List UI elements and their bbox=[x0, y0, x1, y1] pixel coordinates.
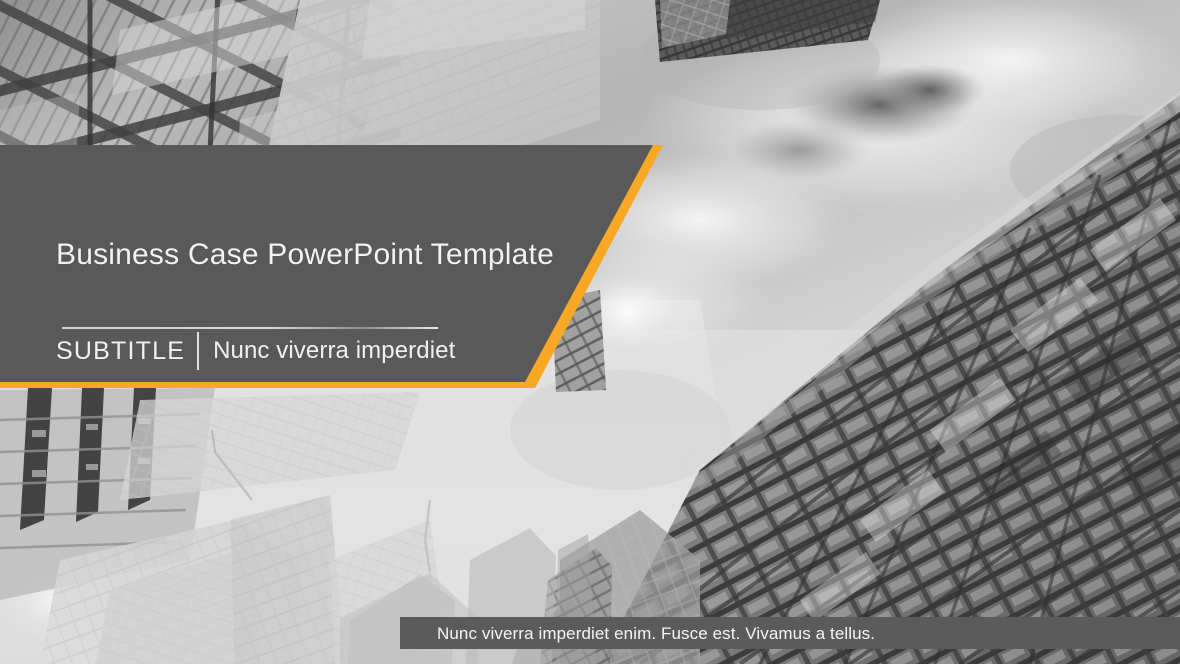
background-photo bbox=[0, 0, 1180, 664]
horizontal-rule-icon bbox=[62, 327, 438, 329]
page-title: Business Case PowerPoint Template bbox=[56, 240, 554, 270]
subtitle-label: SUBTITLE bbox=[56, 339, 185, 364]
subtitle-row: SUBTITLE Nunc viverra imperdiet bbox=[56, 333, 455, 369]
caption-bar: Nunc viverra imperdiet enim. Fusce est. … bbox=[400, 617, 1180, 649]
caption-text: Nunc viverra imperdiet enim. Fusce est. … bbox=[437, 625, 875, 642]
vertical-divider-icon bbox=[197, 332, 199, 370]
subtitle-text: Nunc viverra imperdiet bbox=[213, 339, 455, 363]
title-slide: Business Case PowerPoint Template SUBTIT… bbox=[0, 0, 1180, 664]
